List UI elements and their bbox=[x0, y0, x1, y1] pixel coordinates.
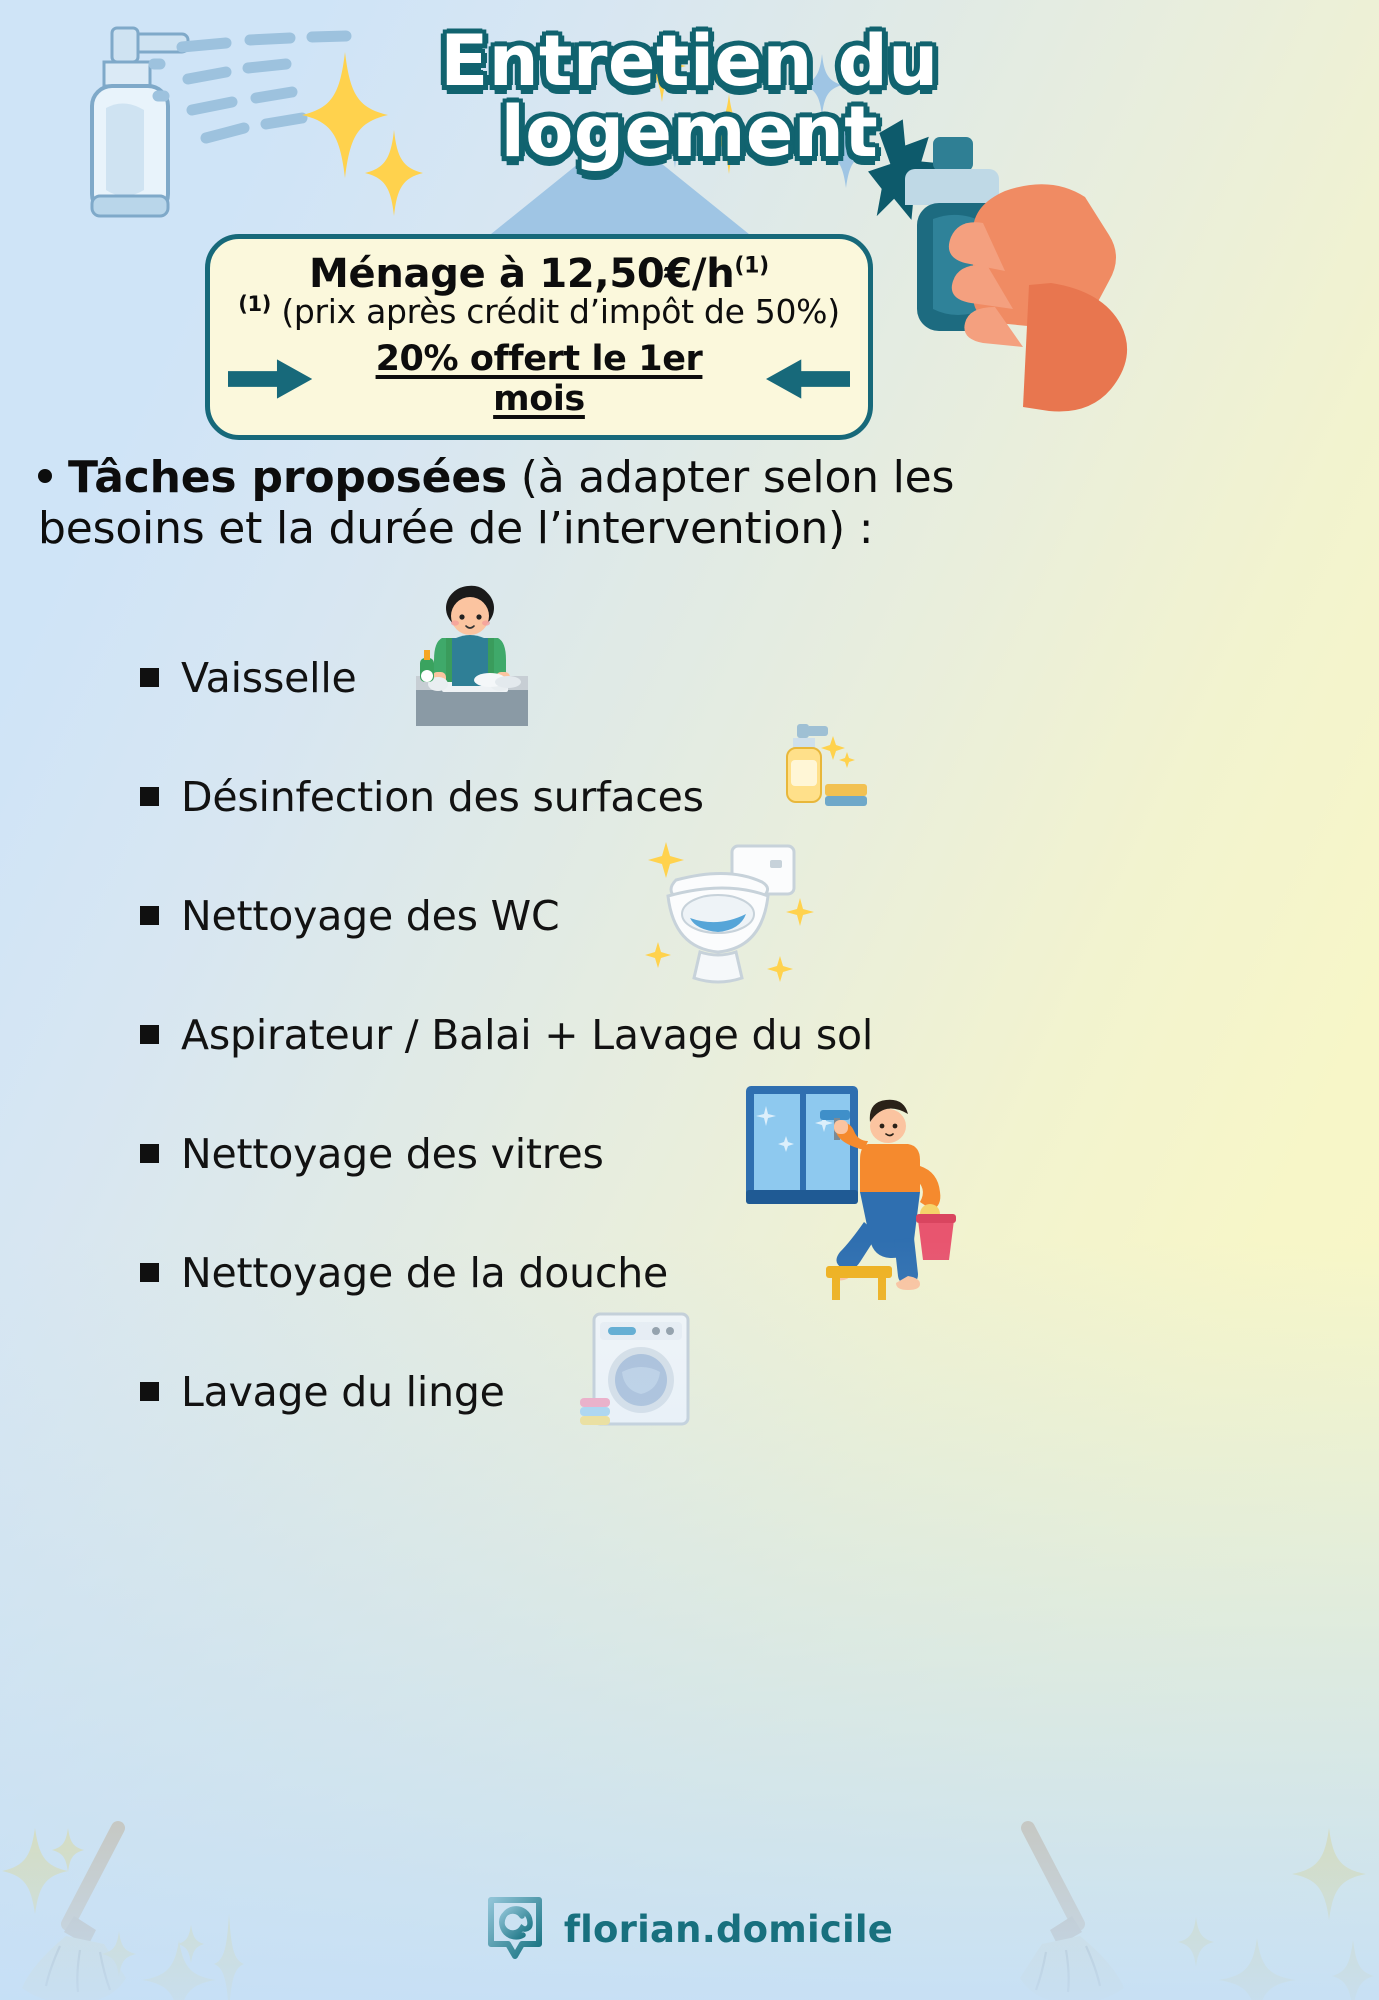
price-footnote-marker: (1) bbox=[734, 254, 769, 279]
square-bullet-icon bbox=[140, 668, 159, 687]
poster-canvas: Entretien du logement Ménage à 12,50€/h(… bbox=[0, 0, 1379, 2000]
price-footnote: (1) (prix après crédit d’impôt de 50%) bbox=[228, 293, 850, 331]
price-callout-box: Ménage à 12,50€/h(1) (1) (prix après cré… bbox=[205, 234, 873, 440]
lead-paragraph: Tâches proposées (à adapter selon les be… bbox=[38, 452, 1038, 554]
task-label: Vaisselle bbox=[181, 654, 357, 702]
task-label: Nettoyage des WC bbox=[181, 892, 559, 940]
square-bullet-icon bbox=[140, 906, 159, 925]
price-footnote-text: (prix après crédit d’impôt de 50%) bbox=[281, 292, 840, 331]
promo-text: 20% offert le 1er mois bbox=[328, 339, 750, 419]
handle-text: florian.domicile bbox=[564, 1908, 893, 1951]
square-bullet-icon bbox=[140, 1382, 159, 1401]
arrow-left-icon bbox=[766, 357, 850, 401]
list-item: Nettoyage de la douche bbox=[140, 1213, 1290, 1332]
task-label: Lavage du linge bbox=[181, 1368, 505, 1416]
square-bullet-icon bbox=[140, 787, 159, 806]
list-item: Vaisselle bbox=[140, 618, 1290, 737]
list-item: Aspirateur / Balai + Lavage du sol bbox=[140, 975, 1290, 1094]
square-bullet-icon bbox=[140, 1144, 159, 1163]
price-headline-text: Ménage à 12,50€/h bbox=[309, 251, 734, 297]
lead-bold-text: Tâches proposées bbox=[68, 452, 507, 503]
square-bullet-icon bbox=[140, 1025, 159, 1044]
price-headline: Ménage à 12,50€/h(1) bbox=[228, 253, 850, 295]
task-label: Désinfection des surfaces bbox=[181, 773, 704, 821]
task-label: Nettoyage de la douche bbox=[181, 1249, 668, 1297]
square-bullet-icon bbox=[140, 1263, 159, 1282]
promo-row: 20% offert le 1er mois bbox=[228, 339, 850, 419]
bullet-dot-icon bbox=[38, 469, 52, 483]
poster-title-wrap: Entretien du logement bbox=[0, 26, 1379, 169]
footer-handle[interactable]: florian.domicile bbox=[0, 1896, 1379, 1962]
at-sign-speech-bubble-icon bbox=[486, 1896, 544, 1962]
task-label: Aspirateur / Balai + Lavage du sol bbox=[181, 1011, 873, 1059]
arrow-right-icon bbox=[228, 357, 312, 401]
list-item: Nettoyage des vitres bbox=[140, 1094, 1290, 1213]
list-item: Nettoyage des WC bbox=[140, 856, 1290, 975]
task-label: Nettoyage des vitres bbox=[181, 1130, 604, 1178]
list-item: Lavage du linge bbox=[140, 1332, 1290, 1451]
page-title: Entretien du logement bbox=[410, 26, 968, 169]
list-item: Désinfection des surfaces bbox=[140, 737, 1290, 856]
price-footnote-marker-2: (1) bbox=[238, 292, 271, 316]
task-list: Vaisselle Désinfection des surfaces Nett… bbox=[140, 618, 1290, 1451]
